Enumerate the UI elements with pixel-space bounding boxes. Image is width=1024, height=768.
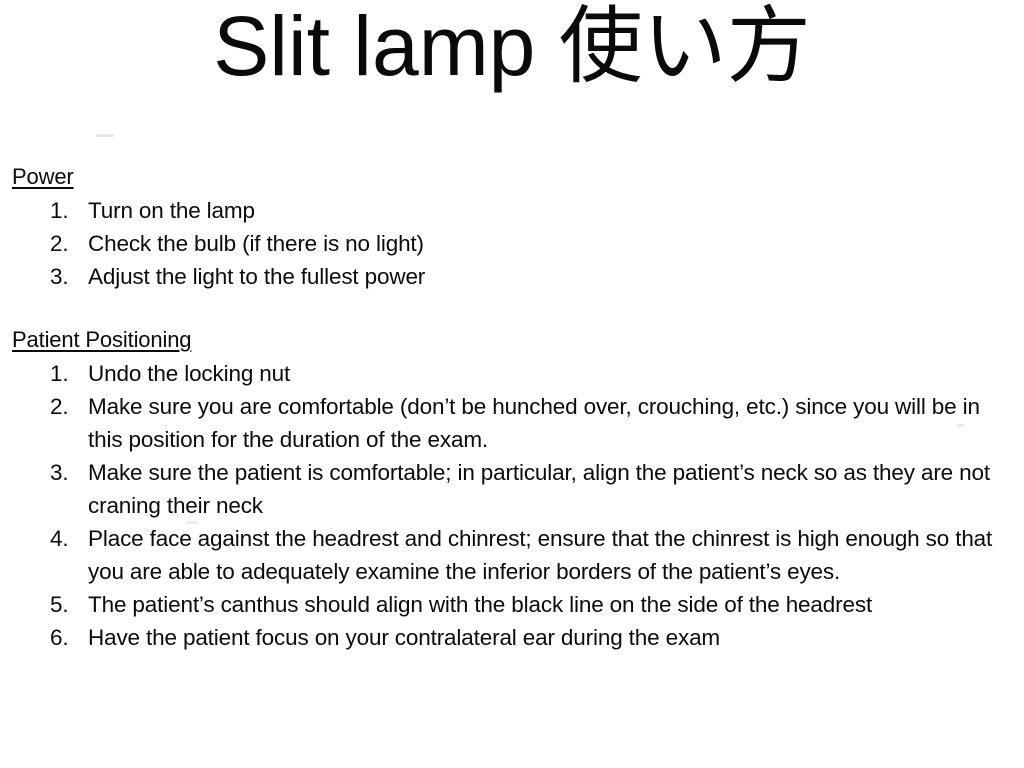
list-item-text: Check the bulb (if there is no light)	[88, 227, 1024, 260]
list-item: 5. The patient’s canthus should align wi…	[0, 588, 1024, 621]
list-item-text: Have the patient focus on your contralat…	[88, 621, 1024, 654]
section-patient-positioning: Patient Positioning 1. Undo the locking …	[0, 326, 1024, 654]
list-item: 2. Check the bulb (if there is no light)	[0, 227, 1024, 260]
list-item-number: 5.	[50, 588, 88, 621]
list-item: 2. Make sure you are comfortable (don’t …	[0, 390, 1024, 456]
list-item-text: The patient’s canthus should align with …	[88, 588, 1024, 621]
list-item-number: 6.	[50, 621, 88, 654]
list-item-text: Make sure you are comfortable (don’t be …	[88, 390, 1024, 456]
list-item-number: 2.	[50, 227, 88, 260]
list-item: 6. Have the patient focus on your contra…	[0, 621, 1024, 654]
patient-positioning-list: 1. Undo the locking nut 2. Make sure you…	[0, 357, 1024, 654]
slide-title: Slit lamp 使い方	[0, 0, 1024, 92]
list-item: 1. Turn on the lamp	[0, 194, 1024, 227]
list-item-text: Place face against the headrest and chin…	[88, 522, 1024, 588]
list-item-text: Undo the locking nut	[88, 357, 1024, 390]
section-heading-power: Power	[12, 163, 74, 190]
list-item-number: 1.	[50, 194, 88, 227]
list-item-number: 2.	[50, 390, 88, 423]
list-item-number: 1.	[50, 357, 88, 390]
list-item-number: 4.	[50, 522, 88, 555]
list-item-text: Make sure the patient is comfortable; in…	[88, 456, 1024, 522]
list-item-number: 3.	[50, 260, 88, 293]
list-item-text: Adjust the light to the fullest power	[88, 260, 1024, 293]
list-item: 1. Undo the locking nut	[0, 357, 1024, 390]
scan-artifact-top	[96, 134, 114, 137]
list-item-text: Turn on the lamp	[88, 194, 1024, 227]
list-item: 3. Make sure the patient is comfortable;…	[0, 456, 1024, 522]
list-item: 4. Place face against the headrest and c…	[0, 522, 1024, 588]
power-list: 1. Turn on the lamp 2. Check the bulb (i…	[0, 194, 1024, 293]
list-item: 3. Adjust the light to the fullest power	[0, 260, 1024, 293]
list-item-number: 3.	[50, 456, 88, 489]
section-heading-patient-positioning: Patient Positioning	[12, 326, 191, 353]
section-power: Power 1. Turn on the lamp 2. Check the b…	[0, 163, 1024, 293]
